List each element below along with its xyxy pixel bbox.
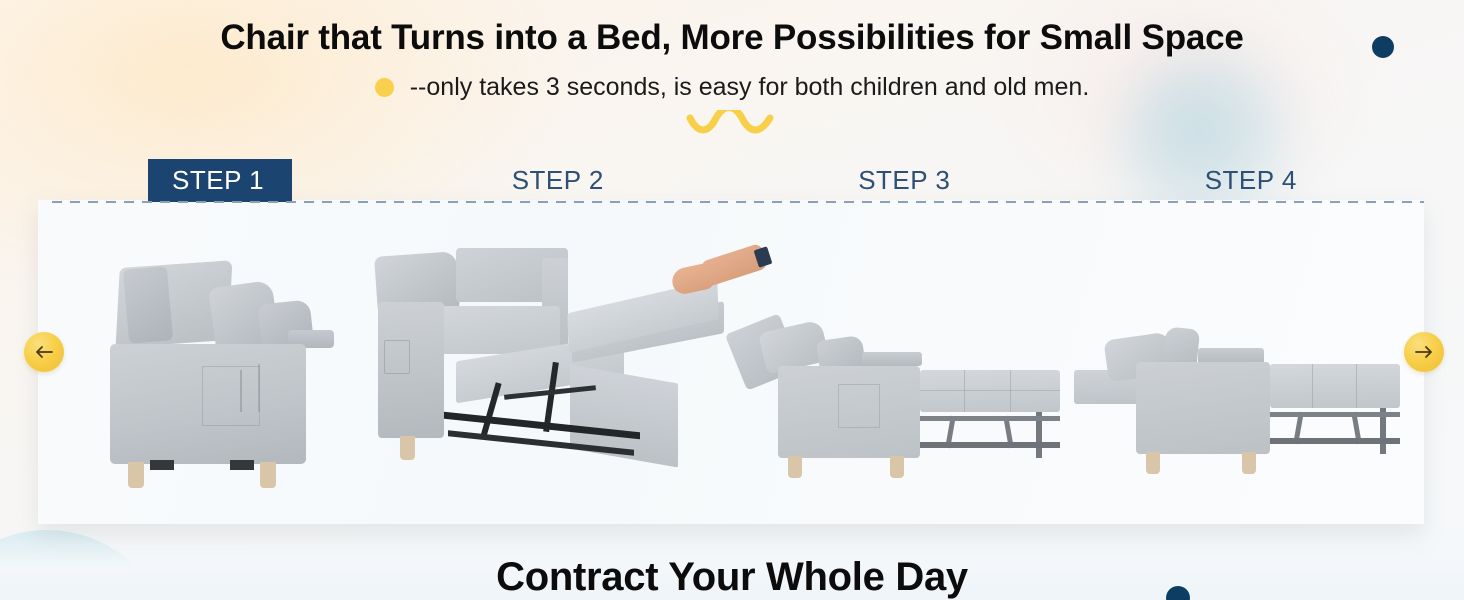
carousel-next-button[interactable]	[1404, 332, 1444, 372]
tab-step-1[interactable]: STEP 1	[38, 160, 385, 200]
carousel-image-step-1	[92, 258, 322, 490]
steps-dashed-divider	[52, 201, 1424, 203]
subtitle-row: --only takes 3 seconds, is easy for both…	[0, 73, 1464, 102]
tab-step-3[interactable]: STEP 3	[731, 160, 1078, 200]
carousel-image-step-4	[1074, 308, 1404, 488]
tab-step-1-label: STEP 1	[148, 159, 292, 202]
page-title: Chair that Turns into a Bed, More Possib…	[0, 0, 1464, 55]
bottom-section: Contract Your Whole Day	[0, 556, 1464, 598]
tab-step-3-label: STEP 3	[858, 167, 950, 193]
tab-step-4-label: STEP 4	[1205, 167, 1297, 193]
hand-pulling-icon	[672, 252, 764, 292]
yellow-dot-icon	[375, 78, 394, 97]
header: Chair that Turns into a Bed, More Possib…	[0, 0, 1464, 136]
yellow-wave-icon	[0, 110, 1464, 136]
arrow-left-icon	[34, 345, 54, 359]
page-subtitle: --only takes 3 seconds, is easy for both…	[410, 73, 1090, 102]
bottom-title: Contract Your Whole Day	[0, 556, 1464, 598]
carousel-panel	[38, 200, 1424, 524]
carousel-image-step-2	[372, 244, 754, 498]
carousel-prev-button[interactable]	[24, 332, 64, 372]
tab-step-4[interactable]: STEP 4	[1078, 160, 1425, 200]
tab-step-2[interactable]: STEP 2	[385, 160, 732, 200]
navy-dot-icon	[1372, 36, 1394, 58]
carousel-image-step-3	[734, 308, 1064, 488]
arrow-right-icon	[1414, 345, 1434, 359]
tab-step-2-label: STEP 2	[512, 167, 604, 193]
step-tabs: STEP 1 STEP 2 STEP 3 STEP 4	[38, 160, 1424, 204]
